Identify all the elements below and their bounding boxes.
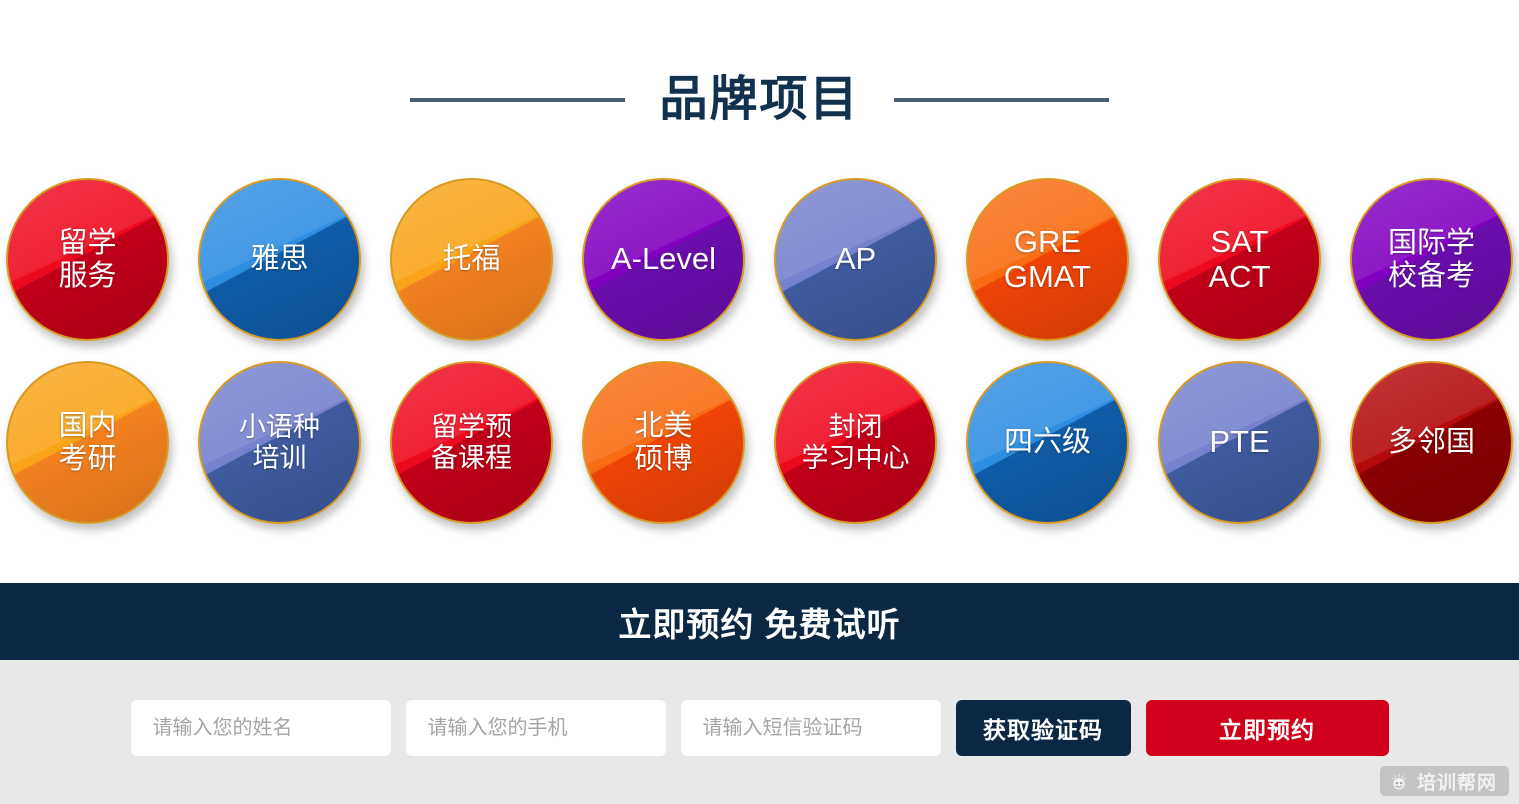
program-bubble[interactable]: 留学 服务 bbox=[6, 178, 169, 341]
program-bubble-label: 雅思 bbox=[244, 243, 314, 275]
program-bubble[interactable]: 四六级 bbox=[966, 361, 1129, 524]
program-bubble[interactable]: 留学预 备课程 bbox=[390, 361, 553, 524]
program-bubble-label: 留学预 备课程 bbox=[425, 412, 518, 472]
program-bubble-label: A-Level bbox=[605, 242, 722, 277]
phone-input[interactable] bbox=[406, 700, 666, 756]
program-row-1: 留学 服务雅思托福A-LevelAPGRE GMATSAT ACT国际学 校备考 bbox=[0, 178, 1519, 341]
program-bubble[interactable]: PTE bbox=[1158, 361, 1321, 524]
program-bubble[interactable]: 多邻国 bbox=[1350, 361, 1513, 524]
program-bubble-label: SAT ACT bbox=[1203, 225, 1277, 294]
program-row-2: 国内 考研小语种 培训留学预 备课程北美 硕博封闭 学习中心四六级PTE多邻国 bbox=[0, 361, 1519, 524]
section-heading: 品牌项目 bbox=[0, 60, 1519, 140]
program-bubble-label: PTE bbox=[1203, 425, 1275, 460]
program-bubble[interactable]: 小语种 培训 bbox=[198, 361, 361, 524]
cta-banner: 立即预约 免费试听 bbox=[0, 583, 1519, 660]
program-bubble-label: 国际学 校备考 bbox=[1382, 227, 1481, 292]
program-bubble[interactable]: GRE GMAT bbox=[966, 178, 1129, 341]
brand-programs-page: 品牌项目 留学 服务雅思托福A-LevelAPGRE GMATSAT ACT国际… bbox=[0, 0, 1519, 804]
program-bubble-label: 封闭 学习中心 bbox=[796, 412, 916, 472]
heading-rule-right bbox=[894, 98, 1109, 102]
reservation-form: 获取验证码 立即预约 bbox=[0, 660, 1519, 804]
program-bubble[interactable]: SAT ACT bbox=[1158, 178, 1321, 341]
program-bubble-grid: 留学 服务雅思托福A-LevelAPGRE GMATSAT ACT国际学 校备考… bbox=[0, 178, 1519, 524]
program-bubble-label: AP bbox=[829, 242, 882, 277]
sun-face-icon bbox=[1388, 770, 1410, 792]
get-sms-code-button[interactable]: 获取验证码 bbox=[956, 700, 1131, 756]
program-bubble[interactable]: 雅思 bbox=[198, 178, 361, 341]
watermark-label: 培训帮网 bbox=[1417, 768, 1497, 795]
program-bubble-label: 国内 考研 bbox=[52, 410, 122, 475]
program-bubble[interactable]: 封闭 学习中心 bbox=[774, 361, 937, 524]
sms-code-input[interactable] bbox=[681, 700, 941, 756]
form-fields-container: 获取验证码 立即预约 bbox=[131, 700, 1389, 756]
program-bubble-label: 多邻国 bbox=[1382, 426, 1481, 458]
program-bubble-label: GRE GMAT bbox=[998, 225, 1097, 294]
cta-banner-title: 立即预约 免费试听 bbox=[618, 598, 900, 646]
program-bubble[interactable]: 托福 bbox=[390, 178, 553, 341]
program-bubble-label: 小语种 培训 bbox=[233, 412, 326, 472]
submit-reservation-button[interactable]: 立即预约 bbox=[1146, 700, 1389, 756]
program-bubble[interactable]: 国际学 校备考 bbox=[1350, 178, 1513, 341]
heading-rule-left bbox=[410, 98, 625, 102]
site-watermark: 培训帮网 bbox=[1380, 766, 1509, 796]
program-bubble-label: 北美 硕博 bbox=[628, 410, 698, 475]
program-bubble[interactable]: 北美 硕博 bbox=[582, 361, 745, 524]
program-bubble-label: 托福 bbox=[436, 243, 506, 275]
program-bubble[interactable]: 国内 考研 bbox=[6, 361, 169, 524]
name-input[interactable] bbox=[131, 700, 391, 756]
program-bubble[interactable]: A-Level bbox=[582, 178, 745, 341]
page-title: 品牌项目 bbox=[659, 76, 859, 124]
program-bubble[interactable]: AP bbox=[774, 178, 937, 341]
program-bubble-label: 四六级 bbox=[998, 426, 1097, 458]
program-bubble-label: 留学 服务 bbox=[52, 227, 122, 292]
